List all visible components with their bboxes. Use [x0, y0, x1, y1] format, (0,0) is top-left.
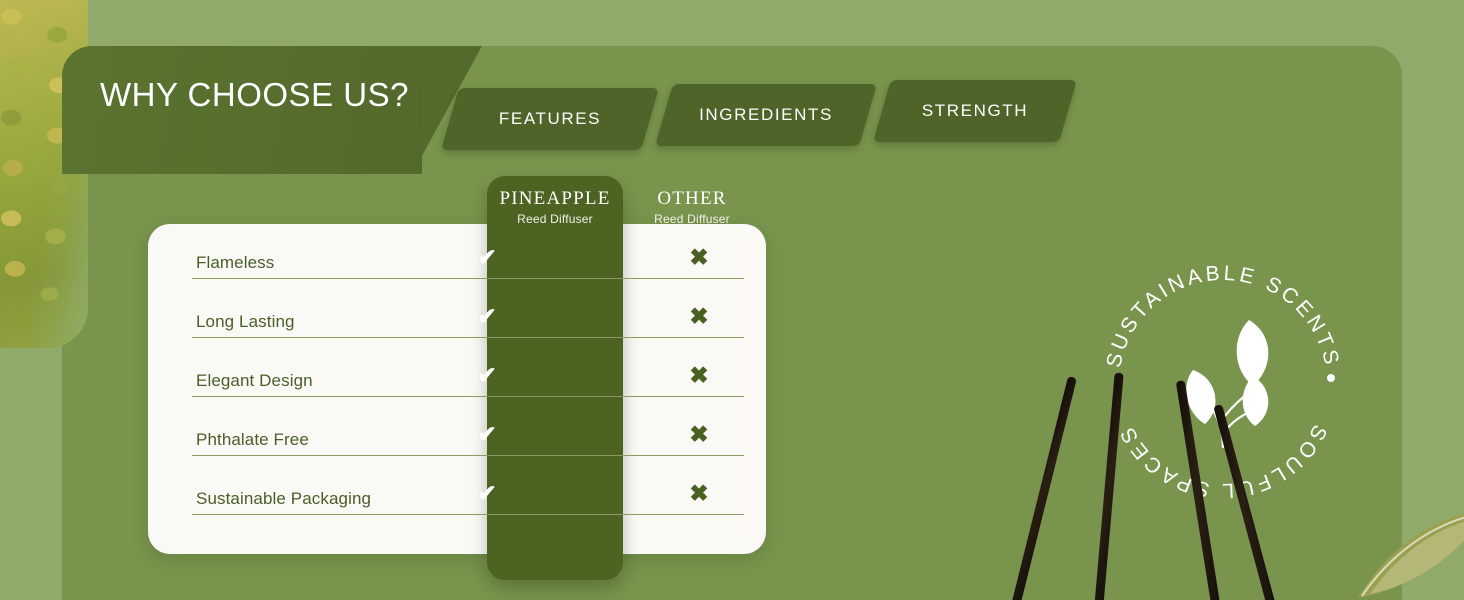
seal-top-text-span: SUSTAINABLE SCENTS [1102, 262, 1343, 370]
cross-icon: ✖ [679, 246, 719, 269]
column-header-pineapple: PINEAPPLE Reed Diffuser [487, 189, 623, 226]
table-row: Flameless ✔ ✖ [148, 224, 766, 283]
cross-icon: ✖ [679, 305, 719, 328]
row-divider [192, 514, 744, 515]
column-header-other-name: OTHER [624, 189, 760, 210]
tab-strength[interactable]: STRENGTH [873, 80, 1077, 142]
feature-label: Flameless [196, 253, 274, 273]
tab-features[interactable]: FEATURES [441, 88, 659, 150]
column-header-other-subtitle: Reed Diffuser [624, 212, 760, 226]
feature-label: Phthalate Free [196, 430, 309, 450]
check-icon: ✔ [467, 364, 507, 387]
row-divider [192, 278, 744, 279]
feature-label: Sustainable Packaging [196, 489, 371, 509]
column-header-pineapple-subtitle: Reed Diffuser [487, 212, 623, 226]
check-icon: ✔ [467, 423, 507, 446]
seal-dot-right [1327, 374, 1335, 382]
table-row: Sustainable Packaging ✔ ✖ [148, 460, 766, 519]
leaf-decoration [1340, 486, 1464, 600]
tab-ingredients[interactable]: INGREDIENTS [655, 84, 877, 146]
check-icon: ✔ [467, 305, 507, 328]
feature-table: Flameless ✔ ✖ Long Lasting ✔ ✖ Elegant D… [148, 224, 766, 519]
column-header-pineapple-name: PINEAPPLE [487, 189, 623, 210]
tab-strength-label: STRENGTH [882, 80, 1068, 142]
table-row: Phthalate Free ✔ ✖ [148, 401, 766, 460]
cross-icon: ✖ [679, 364, 719, 387]
cross-icon: ✖ [679, 482, 719, 505]
table-row: Elegant Design ✔ ✖ [148, 342, 766, 401]
table-row: Long Lasting ✔ ✖ [148, 283, 766, 342]
seal-top-text: SUSTAINABLE SCENTS [1102, 262, 1343, 370]
tab-ingredients-label: INGREDIENTS [664, 84, 868, 146]
row-divider [192, 396, 744, 397]
sustainability-seal: SUSTAINABLE SCENTS SOULFUL SPACES [1097, 258, 1349, 510]
check-icon: ✔ [467, 246, 507, 269]
page-title: WHY CHOOSE US? [100, 76, 409, 114]
cross-icon: ✖ [679, 423, 719, 446]
row-divider [192, 337, 744, 338]
tab-features-label: FEATURES [450, 88, 650, 150]
feature-label: Elegant Design [196, 371, 313, 391]
row-divider [192, 455, 744, 456]
feature-label: Long Lasting [196, 312, 295, 332]
promo-banner: WHY CHOOSE US? FEATURES INGREDIENTS STRE… [0, 0, 1464, 600]
column-header-other: OTHER Reed Diffuser [624, 189, 760, 226]
check-icon: ✔ [467, 482, 507, 505]
